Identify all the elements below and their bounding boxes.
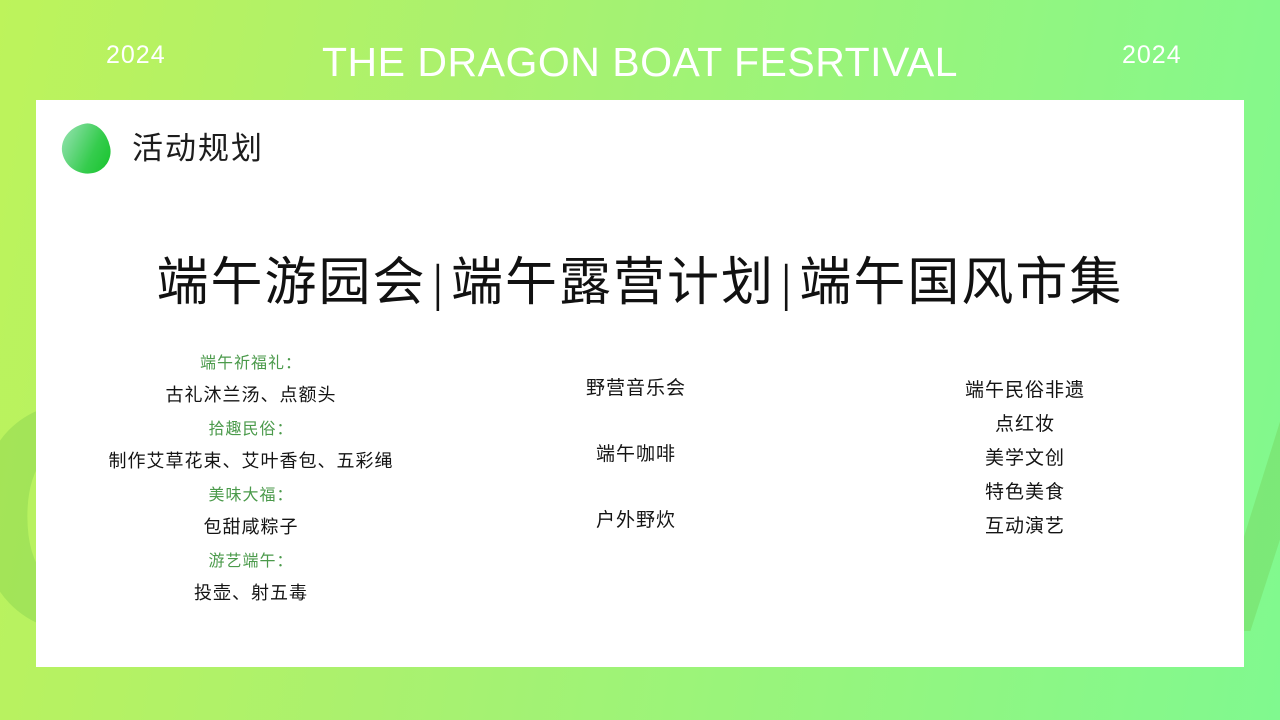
- main-heading-separator-1: |: [427, 255, 451, 312]
- list-item: 互动演艺: [806, 509, 1244, 543]
- list-item: 端午咖啡: [466, 444, 806, 464]
- column-youyuanhui: 端午祈福礼： 古礼沐兰汤、点额头 拾趣民俗： 制作艾草花束、艾叶香包、五彩绳 美…: [36, 338, 466, 610]
- content-card: 活动规划 端午游园会|端午露营计划|端午国风市集 端午祈福礼： 古礼沐兰汤、点额…: [36, 100, 1244, 667]
- column-row-heading: 拾趣民俗：: [36, 412, 466, 445]
- column-luying: 野营音乐会 端午咖啡 户外野炊: [466, 338, 806, 610]
- main-heading: 端午游园会|端午露营计划|端午国风市集: [36, 252, 1244, 315]
- banner-year-right: 2024: [1122, 41, 1182, 70]
- columns-container: 端午祈福礼： 古礼沐兰汤、点额头 拾趣民俗： 制作艾草花束、艾叶香包、五彩绳 美…: [36, 338, 1244, 610]
- column-row-body: 古礼沐兰汤、点额头: [36, 379, 466, 412]
- column-row-heading: 端午祈福礼：: [36, 346, 466, 379]
- column-row-heading: 美味大福：: [36, 478, 466, 511]
- card-header-title: 活动规划: [132, 134, 264, 165]
- column-row-body: 投壶、射五毒: [36, 577, 466, 610]
- card-header: 活动规划: [62, 124, 264, 174]
- list-item: 点红妆: [806, 407, 1244, 441]
- main-heading-part-1: 端午游园会: [157, 253, 427, 313]
- column-guofengshiji: 端午民俗非遗 点红妆 美学文创 特色美食 互动演艺: [806, 338, 1244, 610]
- column-row-body: 包甜咸粽子: [36, 511, 466, 544]
- banner-title: THE DRAGON BOAT FESRTIVAL: [0, 38, 1280, 87]
- list-item: 户外野炊: [466, 510, 806, 530]
- main-heading-part-2: 端午露营计划: [451, 253, 775, 313]
- list-item: 特色美食: [806, 475, 1244, 509]
- main-heading-separator-2: |: [775, 255, 799, 312]
- column-row-body: 制作艾草花束、艾叶香包、五彩绳: [36, 445, 466, 478]
- blob-logo-icon: [57, 120, 114, 179]
- list-item: 端午民俗非遗: [806, 373, 1244, 407]
- list-item: 美学文创: [806, 441, 1244, 475]
- list-item: 野营音乐会: [466, 378, 806, 398]
- slide-root: CO OOMM 2024 THE DRAGON BOAT FESRTIVAL 2…: [0, 0, 1280, 720]
- top-banner: 2024 THE DRAGON BOAT FESRTIVAL 2024: [0, 0, 1280, 100]
- main-heading-part-3: 端午国风市集: [799, 253, 1123, 313]
- column-row-heading: 游艺端午：: [36, 544, 466, 577]
